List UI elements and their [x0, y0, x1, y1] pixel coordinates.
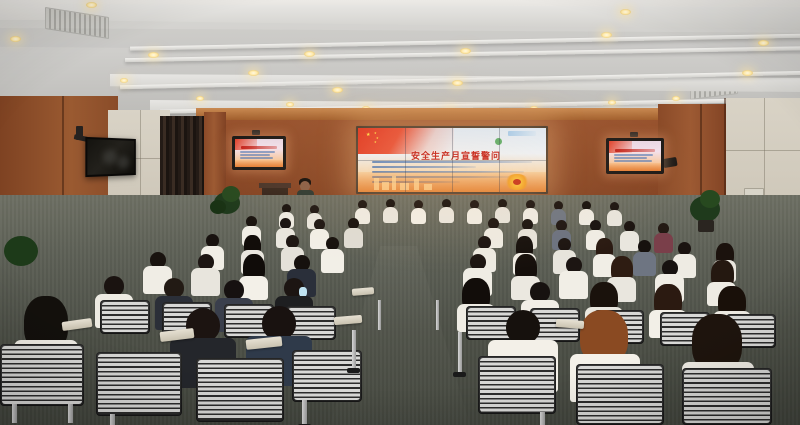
chair-backrest	[576, 364, 664, 425]
slide-body-line	[372, 166, 476, 168]
slide-city-silhouette	[424, 184, 432, 190]
chair-leg	[110, 414, 115, 425]
chair-leg	[302, 400, 307, 425]
downlight	[758, 40, 769, 46]
right-wall-monitor[interactable]	[606, 138, 664, 174]
slide-city-silhouette	[392, 176, 396, 190]
attendee-torso	[383, 207, 398, 223]
monitor-body-line	[240, 154, 270, 156]
downlight	[601, 32, 612, 38]
chair-backrest	[100, 300, 150, 334]
chair-foot	[347, 368, 360, 373]
downlight	[608, 100, 616, 105]
downlight	[10, 36, 21, 42]
attendee-head	[530, 282, 550, 302]
attendee-head	[506, 310, 540, 344]
downlight	[620, 9, 631, 15]
attendee-torso	[344, 228, 363, 248]
plant-foliage	[210, 200, 226, 214]
attendee-torso	[607, 210, 622, 226]
attendee-head	[164, 278, 184, 298]
chair-slats	[2, 346, 82, 404]
chair-slats	[102, 302, 148, 332]
monitor-title-line	[241, 146, 277, 149]
chair-slats	[684, 370, 770, 423]
monitor-footer-graphic	[235, 160, 283, 167]
right-monitor-mount	[630, 132, 638, 137]
chair-leg	[458, 332, 462, 374]
monitor-body-line	[240, 157, 274, 159]
chair-backrest	[478, 356, 556, 414]
plant-foliage	[700, 190, 720, 208]
monitor-body-line	[614, 157, 647, 159]
chair-leg	[540, 412, 545, 425]
attendee-torso	[411, 208, 426, 224]
chair-slats	[198, 360, 282, 420]
panel-seam	[358, 160, 546, 161]
chair-leg	[436, 300, 439, 330]
downlight	[248, 70, 259, 76]
chair-backrest	[0, 344, 84, 406]
attendee-torso	[620, 231, 639, 251]
downlight	[332, 87, 343, 93]
chair-backrest	[196, 358, 284, 422]
plant-foliage	[4, 236, 38, 266]
attendee-head	[224, 280, 244, 300]
led-video-wall[interactable]: ★ ★ ★ ★ 安全生产月宣誓警问	[358, 128, 546, 192]
downlight	[148, 52, 159, 58]
left-wall-monitor[interactable]	[232, 136, 286, 170]
chair-foot	[453, 372, 466, 377]
plant-foliage	[222, 186, 240, 202]
golden-gear-emblem	[504, 174, 530, 190]
attendee-torso	[439, 207, 454, 223]
downlight	[452, 80, 463, 86]
stone-seam	[726, 150, 800, 151]
conference-hall-photo: ★ ★ ★ ★ 安全生产月宣誓警问	[0, 0, 800, 425]
chair-slats	[578, 366, 662, 423]
attendee-head	[262, 306, 296, 340]
downlight	[742, 70, 753, 76]
downlight	[86, 2, 97, 8]
flag-star: ★	[366, 133, 370, 138]
left-wall-tv[interactable]	[85, 137, 135, 177]
chair-backrest	[682, 368, 772, 425]
attendee-torso	[559, 271, 588, 299]
slide-city-silhouette	[382, 182, 389, 190]
monitor-body-line	[614, 160, 651, 162]
downlight	[304, 51, 315, 57]
attendee-head	[104, 276, 124, 296]
downlight	[286, 102, 294, 107]
flag-star: ★	[374, 140, 377, 145]
downlight	[196, 96, 204, 101]
tv-reflection	[103, 150, 117, 164]
plant-pot	[698, 220, 714, 232]
monitor-title-line	[615, 149, 655, 152]
chair-leg	[12, 404, 17, 423]
monitor-body-line	[614, 154, 652, 156]
slide-city-silhouette	[374, 178, 379, 190]
slide-logo	[508, 131, 536, 136]
chair-slats	[480, 358, 554, 412]
chair-leg	[378, 300, 381, 330]
downlight	[672, 96, 680, 101]
podium-top	[259, 183, 291, 188]
monitor-footer-graphic	[609, 163, 661, 171]
chair-slats	[98, 354, 180, 414]
monitor-body-line	[240, 151, 276, 153]
attendee-torso	[467, 208, 482, 224]
left-monitor-mount	[252, 130, 260, 135]
chair-backrest	[96, 352, 182, 416]
attendee-torso	[321, 249, 344, 273]
back-wall-upper-trim	[196, 108, 666, 120]
tv-reflection	[117, 156, 129, 169]
downlight	[120, 78, 128, 83]
attendee-torso	[191, 268, 220, 296]
attendee-torso	[654, 233, 673, 253]
attendee-torso	[633, 252, 656, 276]
slide-city-silhouette	[414, 179, 419, 190]
downlight	[460, 48, 471, 54]
chair-slats	[294, 352, 360, 400]
chair-leg	[352, 330, 356, 370]
chair-leg	[68, 404, 73, 423]
